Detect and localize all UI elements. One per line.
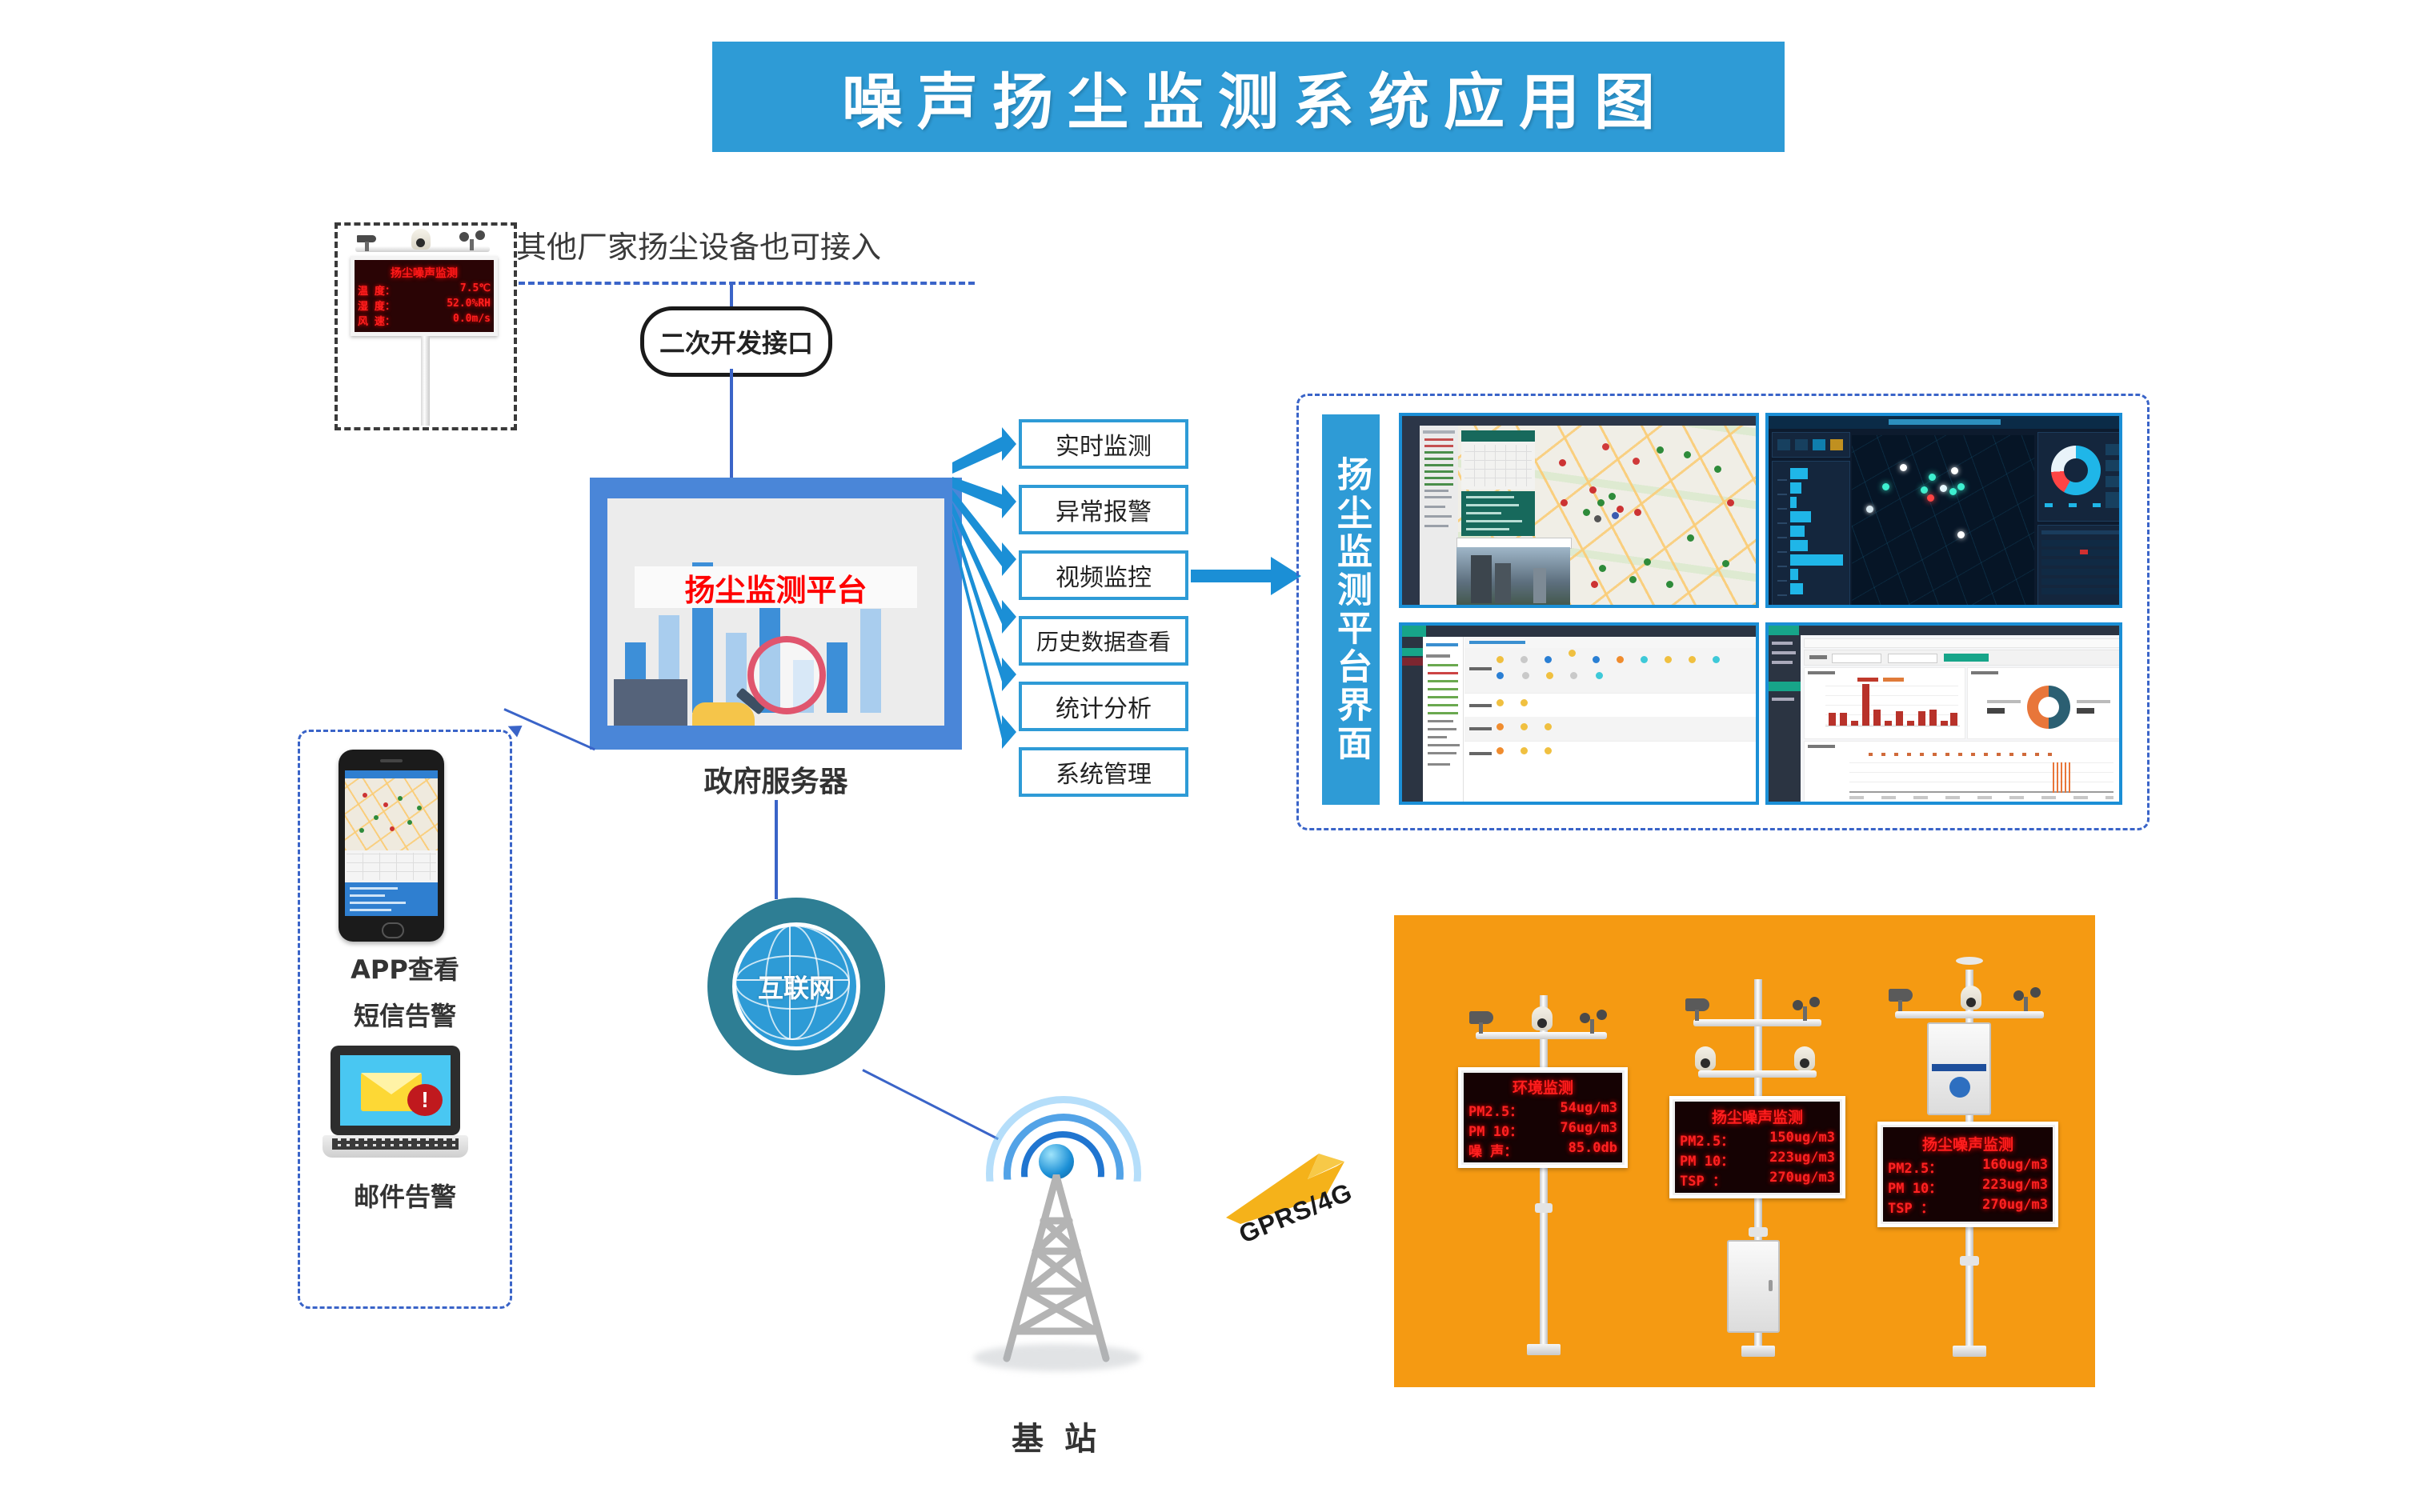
monitoring-station-2: 扬尘噪声监测 PM2.5： 150ug/m3 PM 10： 223ug/m3 T… xyxy=(1666,933,1850,1365)
led-row: 湿 度： 52.0%RH xyxy=(358,298,491,313)
globe-icon: 互联网 xyxy=(732,922,860,1050)
station-crossarm-upper xyxy=(1693,1019,1821,1026)
device-list-logo xyxy=(1402,626,1426,637)
feature-label: 历史数据查看 xyxy=(1036,625,1171,657)
wind-vane-icon xyxy=(357,232,379,250)
led-row-value: 0.0m/s xyxy=(453,313,491,328)
device-list-row[interactable] xyxy=(1464,717,1759,741)
station-led-screen: 环境监测 PM2.5： 54ug/m3 PM 10： 76ug/m3 噪 声： … xyxy=(1464,1073,1622,1162)
page-title-banner: 噪声扬尘监测系统应用图 xyxy=(712,42,1785,152)
station-led-value: 270ug/m3 xyxy=(1769,1170,1835,1190)
station-led-value: 223ug/m3 xyxy=(1982,1177,2048,1197)
platform-screen: 扬尘监测平台 xyxy=(607,498,944,726)
screenshot-device-list[interactable] xyxy=(1399,622,1759,805)
station-led-row: TSP ： 270ug/m3 xyxy=(1888,1197,2048,1217)
device-list-row[interactable] xyxy=(1464,693,1759,718)
map-topbar xyxy=(1402,416,1756,426)
third-party-link-line xyxy=(519,282,975,285)
platform-caption: 政府服务器 xyxy=(590,758,962,800)
base-station-label: 基 站 xyxy=(944,1413,1168,1459)
station-led-label: PM 10： xyxy=(1888,1177,1942,1197)
station-led-row: PM 10： 76ug/m3 xyxy=(1468,1120,1617,1140)
statistics-filter-bar xyxy=(1804,650,2122,666)
station-led-label: 噪 声： xyxy=(1468,1140,1517,1160)
station-led-row: PM 10： 223ug/m3 xyxy=(1888,1177,2048,1197)
map-video-thumbnail xyxy=(1456,547,1570,608)
station-led-row: TSP ： 270ug/m3 xyxy=(1680,1170,1835,1190)
device-list-topbar xyxy=(1402,626,1756,637)
field-stations-panel: 环境监测 PM2.5： 54ug/m3 PM 10： 76ug/m3 噪 声： … xyxy=(1394,915,2095,1387)
email-caption: 邮件告警 xyxy=(300,1177,510,1214)
screenshot-map-monitoring[interactable] xyxy=(1399,413,1759,608)
station-led-row: PM2.5： 150ug/m3 xyxy=(1680,1130,1835,1150)
station-led-value: 85.0db xyxy=(1569,1140,1617,1160)
station-led-board: 环境监测 PM2.5： 54ug/m3 PM 10： 76ug/m3 噪 声： … xyxy=(1458,1067,1628,1168)
control-cabinet xyxy=(1727,1240,1780,1333)
tower-shadow xyxy=(973,1344,1141,1371)
feature-arrows xyxy=(952,400,1040,800)
screenshot-big-data-dashboard[interactable] xyxy=(1765,413,2122,608)
station-led-header: 环境监测 xyxy=(1468,1076,1617,1098)
laptop-device: ! xyxy=(323,1046,468,1158)
phone-speaker xyxy=(380,759,403,762)
platform-to-internet-line xyxy=(775,800,778,899)
api-link-line xyxy=(730,282,733,307)
led-row-value: 7.5℃ xyxy=(460,282,491,298)
feature-item-statistics[interactable]: 统计分析 xyxy=(1019,682,1188,731)
station-led-header: 扬尘噪声监测 xyxy=(1888,1133,2048,1154)
feature-label: 系统管理 xyxy=(1056,754,1152,790)
dome-camera-icon xyxy=(411,229,431,250)
station-led-value: 150ug/m3 xyxy=(1769,1130,1835,1150)
statistics-donut-chart xyxy=(1967,667,2122,739)
third-party-note: 其他厂家扬尘设备也可接入 xyxy=(516,222,881,266)
app-caption: APP查看 xyxy=(300,950,510,986)
statistics-logo xyxy=(1769,626,1799,635)
keyboard-icon xyxy=(614,679,687,726)
phone-app-header xyxy=(345,770,438,778)
station-led-row: PM 10： 223ug/m3 xyxy=(1680,1150,1835,1170)
page-title: 噪声扬尘监测系统应用图 xyxy=(827,53,1669,141)
phone-map xyxy=(345,778,438,850)
statistics-topbar xyxy=(1769,626,2119,635)
phone-info-panel xyxy=(345,882,438,916)
station-led-row: 噪 声： 85.0db xyxy=(1468,1140,1617,1160)
led-row: 温 度： 7.5℃ xyxy=(358,282,491,298)
station-led-value: 76ug/m3 xyxy=(1560,1120,1617,1140)
dome-camera-icon xyxy=(1794,1046,1815,1070)
anemometer-icon xyxy=(459,230,487,250)
station-crossarm xyxy=(1476,1032,1607,1039)
government-server-platform[interactable]: 扬尘监测平台 xyxy=(590,478,962,750)
station-led-value: 223ug/m3 xyxy=(1769,1150,1835,1170)
statistics-breadcrumb xyxy=(1804,638,2122,648)
feature-item-system[interactable]: 系统管理 xyxy=(1019,747,1188,797)
platform-bar xyxy=(860,609,881,713)
feature-item-realtime[interactable]: 实时监测 xyxy=(1019,419,1188,469)
station-led-value: 54ug/m3 xyxy=(1560,1100,1617,1120)
map-calendar-header xyxy=(1461,430,1535,442)
statistics-bar-chart xyxy=(1804,667,1965,739)
station-led-label: PM2.5： xyxy=(1888,1157,1942,1177)
features-to-ui-arrow xyxy=(1191,550,1303,606)
feature-label: 统计分析 xyxy=(1056,689,1152,724)
phone-grid-panel xyxy=(345,850,438,882)
dome-camera-icon xyxy=(1532,1006,1553,1030)
platform-screen-title: 扬尘监测平台 xyxy=(635,566,918,608)
magnifier-icon xyxy=(747,636,826,714)
statistics-sidebar xyxy=(1769,635,1801,805)
feature-item-video[interactable]: 视频监控 xyxy=(1019,550,1188,600)
screenshot-statistics[interactable] xyxy=(1765,622,2122,805)
internet-node: 互联网 xyxy=(707,898,885,1075)
feature-item-alarm[interactable]: 异常报警 xyxy=(1019,485,1188,534)
platform-bar xyxy=(827,642,847,713)
ui-panel-vertical-label: 扬尘监测平台界面 xyxy=(1322,414,1380,805)
station-led-header: 扬尘噪声监测 xyxy=(1680,1106,1835,1127)
dome-camera-icon xyxy=(1961,986,1981,1010)
led-row-label: 风 速： xyxy=(358,313,395,328)
api-to-platform-line xyxy=(730,369,733,478)
third-party-led-sign: 扬尘噪声监测 温 度： 7.5℃ 湿 度： 52.0%RH 风 速： 0.0m/… xyxy=(351,256,498,336)
device-list-breadcrumb xyxy=(1464,637,1759,649)
station-crossarm xyxy=(1895,1011,2044,1018)
phone-screen xyxy=(345,770,438,916)
hand-icon xyxy=(692,702,755,726)
dashboard-donut-panel xyxy=(2037,432,2122,522)
donut-chart xyxy=(2051,446,2101,495)
anemometer-icon xyxy=(2013,987,2041,1000)
tower-structure-icon xyxy=(991,1174,1122,1363)
laptop-base xyxy=(323,1135,468,1158)
phone-home-button[interactable] xyxy=(382,922,404,938)
station-led-label: PM2.5： xyxy=(1468,1100,1523,1120)
alert-badge-icon: ! xyxy=(407,1084,443,1116)
device-list-tree xyxy=(1423,637,1464,805)
dashboard-kpi-panel xyxy=(1772,432,1850,458)
secondary-development-api-box[interactable]: 二次开发接口 xyxy=(640,306,832,377)
feature-label: 异常报警 xyxy=(1056,492,1152,527)
station-led-label: PM 10： xyxy=(1468,1120,1523,1140)
alert-channels-group: APP查看 短信告警 ! 邮件告警 xyxy=(298,730,512,1309)
station-led-row: PM2.5： 160ug/m3 xyxy=(1888,1157,2048,1177)
rain-gauge-icon xyxy=(1956,957,1983,965)
station-led-screen: 扬尘噪声监测 PM2.5： 160ug/m3 PM 10： 223ug/m3 T… xyxy=(1883,1127,2053,1222)
sms-caption: 短信告警 xyxy=(300,996,510,1033)
anemometer-icon xyxy=(1580,1010,1607,1022)
statistics-line-chart xyxy=(1804,741,2122,805)
dashboard-bar-panel xyxy=(1772,461,1850,608)
laptop-screen: ! xyxy=(340,1055,451,1126)
anemometer-icon xyxy=(1793,997,1820,1010)
feature-item-history[interactable]: 历史数据查看 xyxy=(1019,616,1188,666)
station-enclosure xyxy=(1927,1022,1991,1115)
monitoring-station-3: 扬尘噪声监测 PM2.5： 160ug/m3 PM 10： 223ug/m3 T… xyxy=(1877,922,2061,1365)
station-led-label: PM2.5： xyxy=(1680,1130,1734,1150)
feature-label: 实时监测 xyxy=(1056,426,1152,462)
phone-device xyxy=(339,750,444,942)
sign-pole xyxy=(421,336,430,426)
station-led-label: PM 10： xyxy=(1680,1150,1734,1170)
led-row-label: 温 度： xyxy=(358,282,395,298)
monitoring-station-1: 环境监测 PM2.5： 54ug/m3 PM 10： 76ug/m3 噪 声： … xyxy=(1452,949,1636,1365)
station-led-row: PM2.5： 54ug/m3 xyxy=(1468,1100,1617,1120)
led-row-value: 52.0%RH xyxy=(447,298,491,313)
station-led-label: TSP ： xyxy=(1888,1197,1934,1217)
third-party-device-group: 扬尘噪声监测 温 度： 7.5℃ 湿 度： 52.0%RH 风 速： 0.0m/… xyxy=(335,222,517,430)
base-station-node xyxy=(944,1088,1168,1408)
internet-label: 互联网 xyxy=(758,968,835,1005)
dashboard-header-title xyxy=(1889,419,2001,425)
map-railbar xyxy=(1402,426,1420,608)
station-led-screen: 扬尘噪声监测 PM2.5： 150ug/m3 PM 10： 223ug/m3 T… xyxy=(1675,1102,1840,1193)
station-led-value: 160ug/m3 xyxy=(1982,1157,2048,1177)
station-led-board: 扬尘噪声监测 PM2.5： 150ug/m3 PM 10： 223ug/m3 T… xyxy=(1669,1096,1845,1198)
led-row: 风 速： 0.0m/s xyxy=(358,313,491,328)
ui-panel-label-text: 扬尘监测平台界面 xyxy=(1325,456,1376,763)
gprs-link-indicator: GPRS/4G xyxy=(1224,1144,1400,1272)
station-led-value: 270ug/m3 xyxy=(1982,1197,2048,1217)
station-led-board: 扬尘噪声监测 PM2.5： 160ug/m3 PM 10： 223ug/m3 T… xyxy=(1877,1122,2058,1227)
station-led-label: TSP ： xyxy=(1680,1170,1726,1190)
device-list-row[interactable] xyxy=(1464,741,1759,766)
dashboard-map xyxy=(1852,435,2034,606)
led-row-label: 湿 度： xyxy=(358,298,395,313)
dome-camera-icon xyxy=(1695,1046,1716,1070)
dashboard-table-panel xyxy=(2037,525,2122,608)
third-party-led-screen: 扬尘噪声监测 温 度： 7.5℃ 湿 度： 52.0%RH 风 速： 0.0m/… xyxy=(355,260,494,332)
device-list-row[interactable] xyxy=(1464,648,1759,693)
feature-label: 视频监控 xyxy=(1056,558,1152,593)
led-header: 扬尘噪声监测 xyxy=(358,265,491,281)
api-box-label: 二次开发接口 xyxy=(659,323,813,360)
station-crossarm-lower xyxy=(1698,1070,1817,1078)
